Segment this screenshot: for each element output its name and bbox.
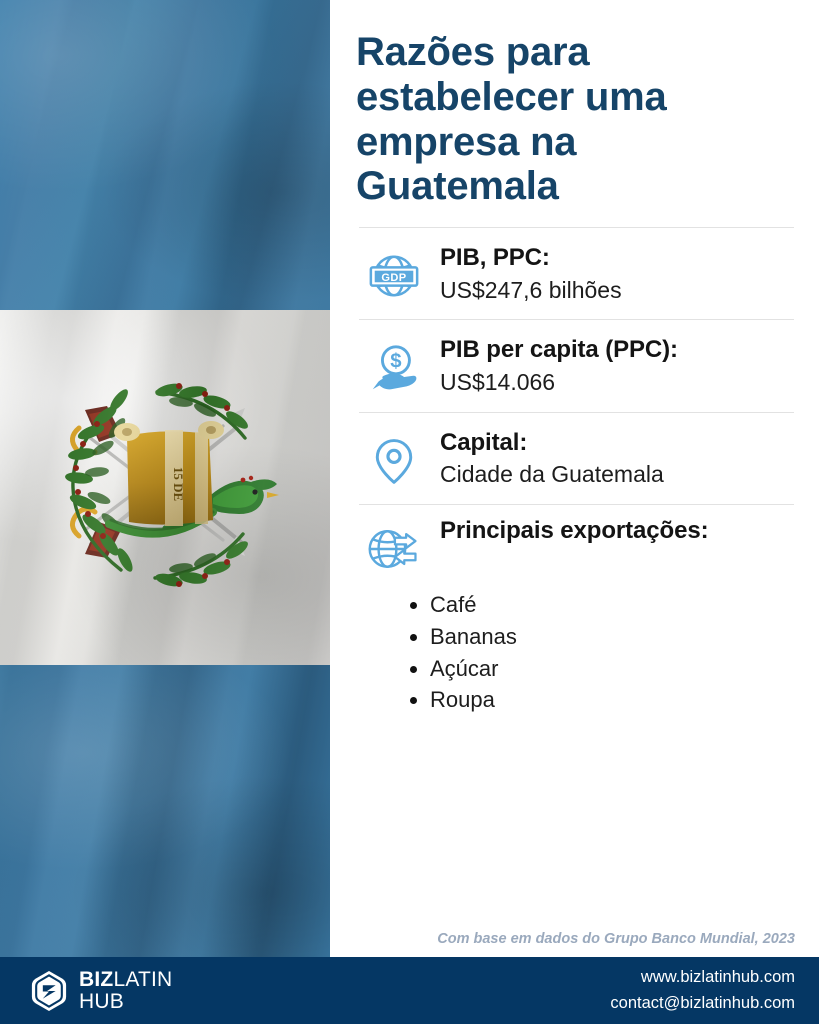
list-item: Roupa bbox=[408, 684, 797, 716]
stat-row-exports: Principais exportações: bbox=[356, 505, 797, 581]
stat-label-gdp: PIB, PPC: bbox=[440, 244, 797, 272]
stat-body-capital: Capital: Cidade da Guatemala bbox=[440, 429, 797, 490]
stat-row-gdp: GDP PIB, PPC: US$247,6 bilhões bbox=[356, 228, 797, 319]
bizlatinhub-diamond-icon bbox=[30, 970, 68, 1012]
globe-export-arrows-icon bbox=[366, 521, 422, 577]
email-link[interactable]: contact@bizlatinhub.com bbox=[610, 991, 795, 1017]
source-note: Com base em dados do Grupo Banco Mundial… bbox=[356, 931, 797, 957]
footer-contact: www.bizlatinhub.com contact@bizlatinhub.… bbox=[610, 965, 795, 1016]
guatemala-flag-image: 15 DE bbox=[0, 0, 330, 957]
stat-row-gdp-per-capita: $ PIB per capita (PPC): US$14.066 bbox=[356, 320, 797, 411]
list-item: Bananas bbox=[408, 621, 797, 653]
coat-scroll-text: 15 DE bbox=[171, 467, 186, 501]
bizlatinhub-logo[interactable]: BIZLATIN HUB bbox=[30, 969, 172, 1012]
brand-line1-rest: LATIN bbox=[113, 968, 172, 991]
footer-bar: BIZLATIN HUB www.bizlatinhub.com contact… bbox=[0, 957, 819, 1024]
exports-list: Café Bananas Açúcar Roupa bbox=[408, 589, 797, 717]
infographic-poster: 15 DE Razões para estabelecer uma empres… bbox=[0, 0, 819, 1024]
stat-label-gdp-per-capita: PIB per capita (PPC): bbox=[440, 336, 797, 364]
stat-body-exports: Principais exportações: bbox=[440, 517, 797, 545]
list-item: Café bbox=[408, 589, 797, 621]
brand-line2: HUB bbox=[79, 991, 172, 1012]
stat-label-capital: Capital: bbox=[440, 429, 797, 457]
stat-value-gdp-per-capita: US$14.066 bbox=[440, 368, 797, 398]
flag-band-blue-bottom bbox=[0, 665, 330, 957]
guatemala-coat-of-arms-icon: 15 DE bbox=[45, 372, 285, 602]
brand-line1-bold: BIZ bbox=[79, 968, 113, 991]
gdp-globe-icon: GDP bbox=[366, 248, 422, 304]
content-panel: Razões para estabelecer uma empresa na G… bbox=[330, 0, 819, 957]
stat-label-exports: Principais exportações: bbox=[440, 517, 797, 545]
page-title: Razões para estabelecer uma empresa na G… bbox=[356, 30, 797, 209]
stat-row-capital: Capital: Cidade da Guatemala bbox=[356, 413, 797, 504]
hand-holding-dollar-icon: $ bbox=[366, 340, 422, 396]
website-link[interactable]: www.bizlatinhub.com bbox=[610, 965, 795, 991]
stat-value-capital: Cidade da Guatemala bbox=[440, 460, 797, 490]
main-section: 15 DE Razões para estabelecer uma empres… bbox=[0, 0, 819, 957]
stat-body-gdp-per-capita: PIB per capita (PPC): US$14.066 bbox=[440, 336, 797, 397]
flag-band-blue-top bbox=[0, 0, 330, 310]
stat-body-gdp: PIB, PPC: US$247,6 bilhões bbox=[440, 244, 797, 305]
stat-value-gdp: US$247,6 bilhões bbox=[440, 276, 797, 306]
map-pin-icon bbox=[366, 433, 422, 489]
svg-text:$: $ bbox=[390, 351, 401, 373]
gdp-icon-label: GDP bbox=[381, 272, 406, 284]
list-item: Açúcar bbox=[408, 653, 797, 685]
brand-wordmark: BIZLATIN HUB bbox=[79, 969, 172, 1012]
